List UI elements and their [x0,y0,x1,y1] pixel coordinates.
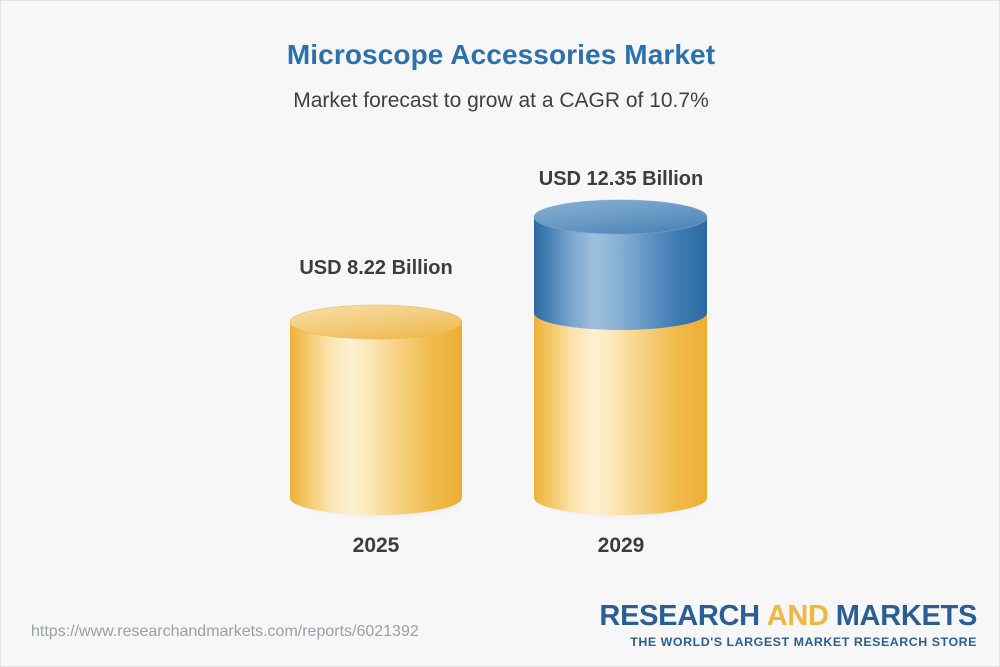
bar-category-label-2029: 2029 [521,534,721,558]
research-and-markets-logo[interactable]: RESEARCHANDMARKETS THE WORLD'S LARGEST M… [599,602,977,648]
bar-value-label-2025: USD 8.22 Billion [276,257,476,280]
source-url[interactable]: https://www.researchandmarkets.com/repor… [31,623,419,641]
bar-cylinder-2029-base [534,306,707,518]
logo-word-and: AND [767,600,829,632]
bar-cylinder-2029-top [534,201,707,321]
bar-category-label-2025: 2025 [276,534,476,558]
logo-tagline: THE WORLD'S LARGEST MARKET RESEARCH STOR… [599,636,977,648]
bar-cylinder-2025 [290,306,462,518]
logo-word-markets: MARKETS [836,600,977,632]
logo-word-research: RESEARCH [599,600,759,632]
chart-canvas: Microscope Accessories Market Market for… [0,0,1000,667]
bar-value-label-2029: USD 12.35 Billion [521,168,721,191]
logo-wordmark: RESEARCHANDMARKETS [599,602,977,631]
chart-plot-area: USD 8.22 Billion [1,1,1000,667]
